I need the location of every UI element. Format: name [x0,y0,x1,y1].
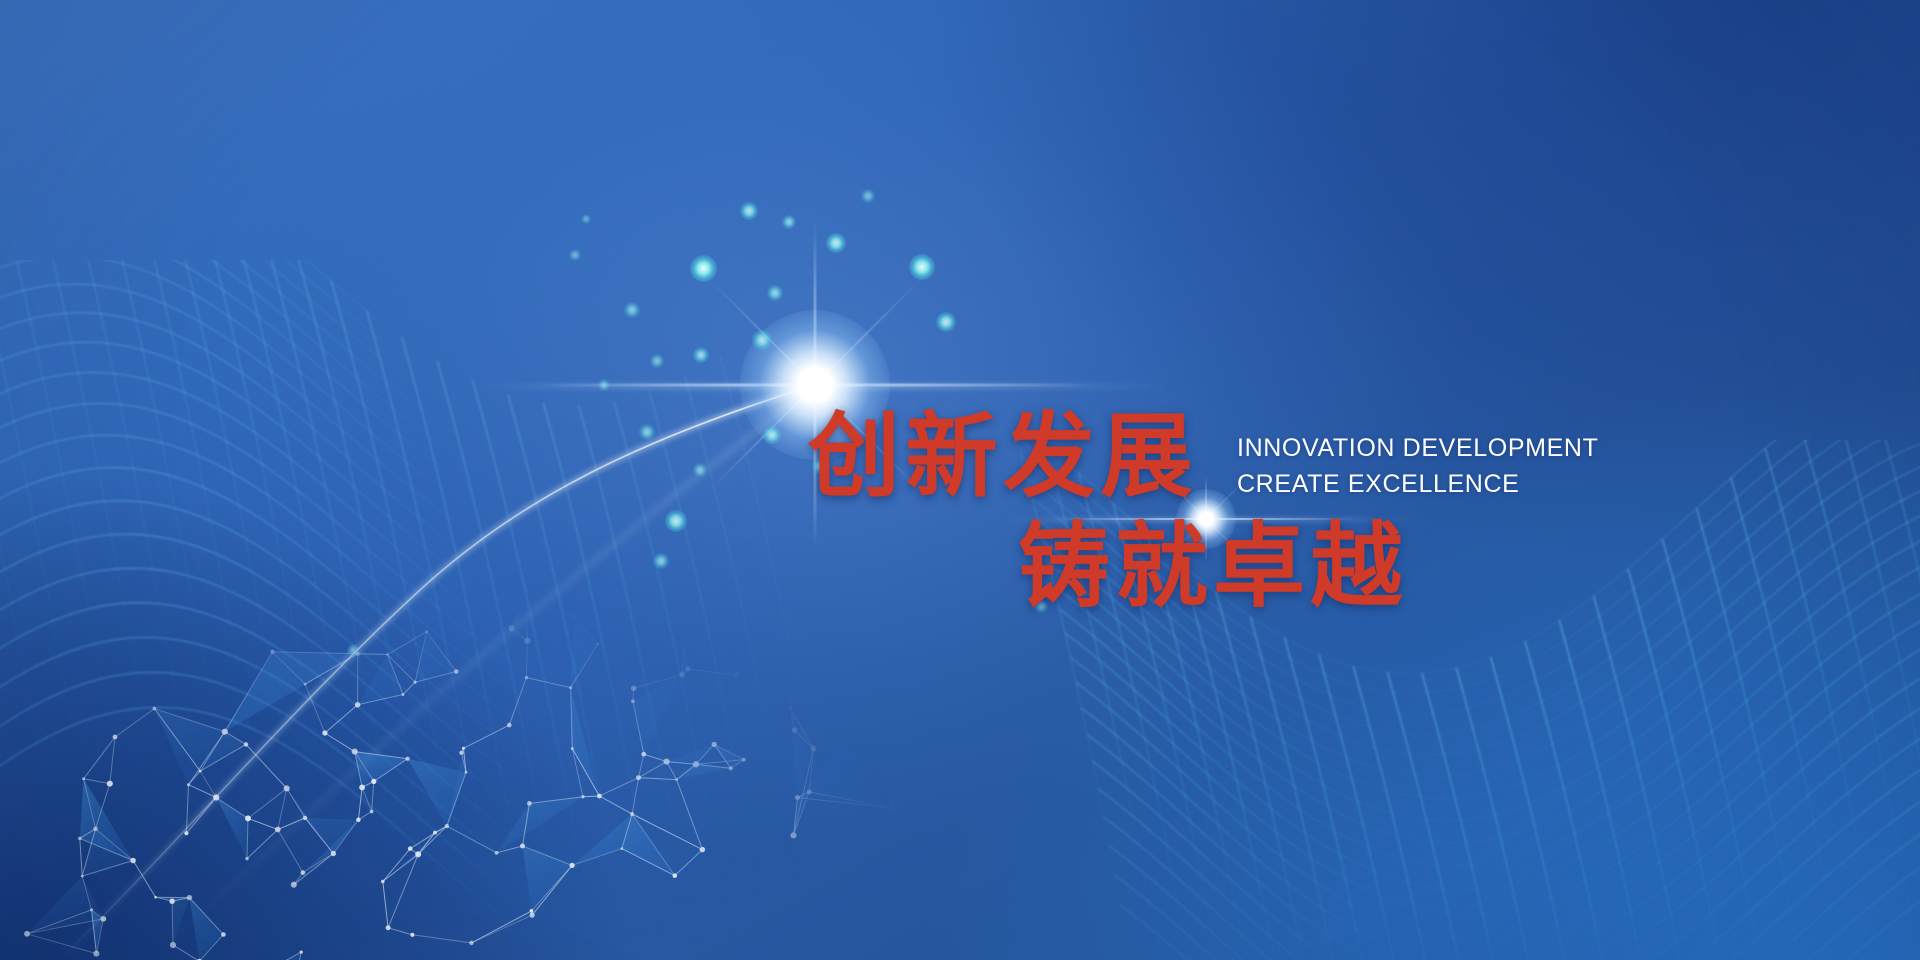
background-vignette [0,0,1920,960]
promotional-banner: 创新发展 铸就卓越 INNOVATION DEVELOPMENT CREATE … [0,0,1920,960]
